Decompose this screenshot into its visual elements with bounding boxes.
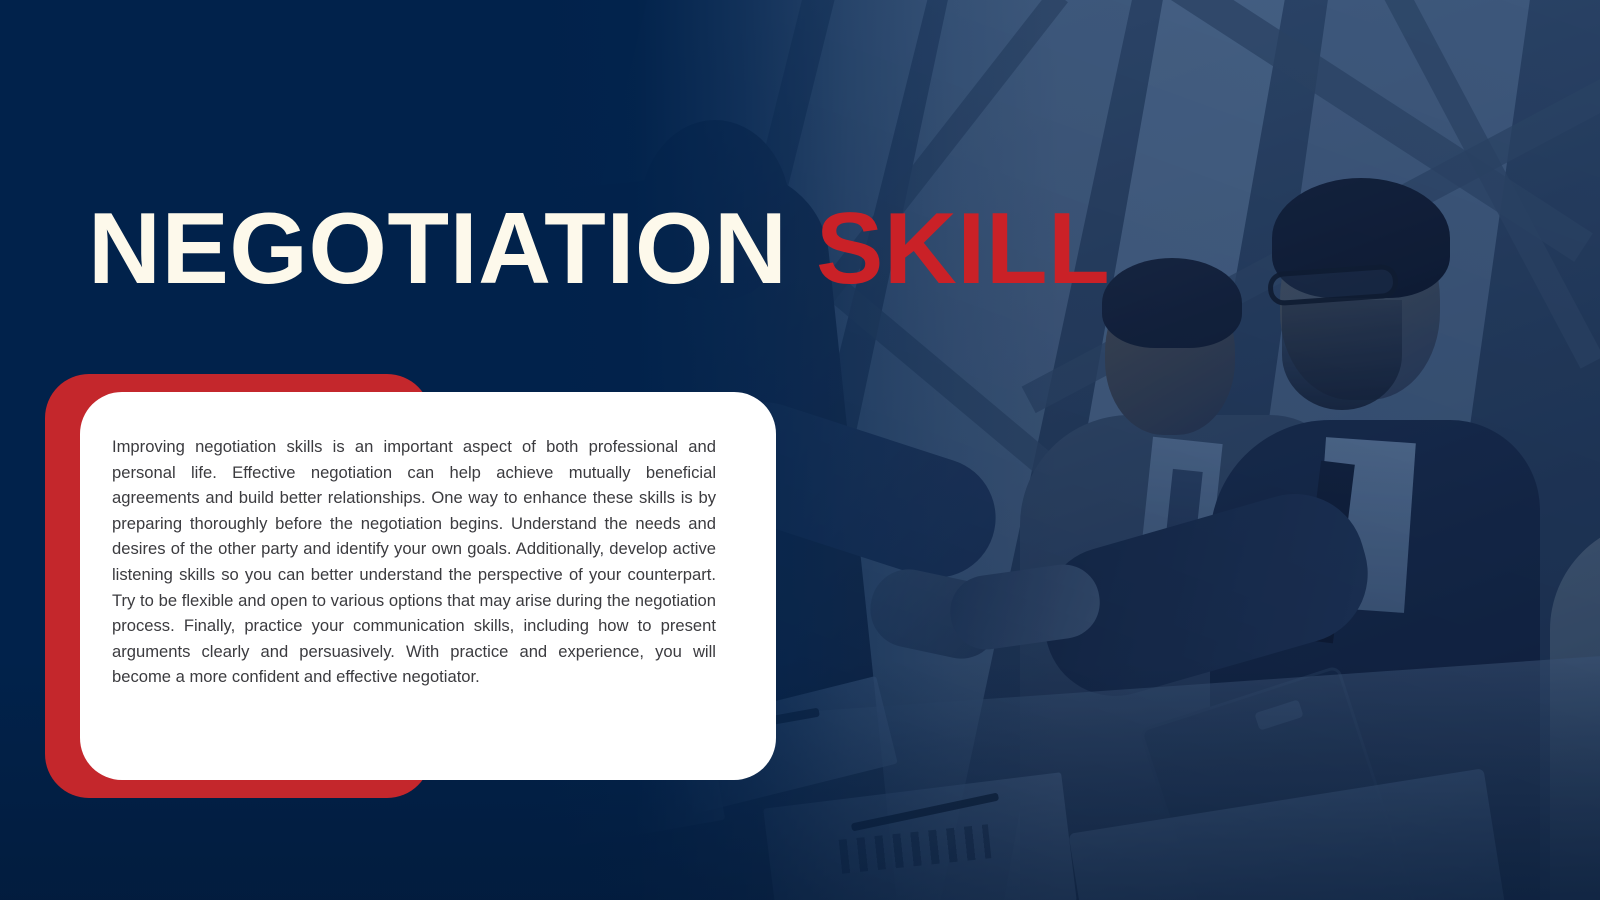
body-text-card: Improving negotiation skills is an impor… [80, 392, 776, 780]
presentation-slide: NEGOTIATION SKILL Improving negotiation … [0, 0, 1600, 900]
title-primary-text: NEGOTIATION [88, 193, 816, 305]
body-paragraph: Improving negotiation skills is an impor… [112, 434, 716, 690]
page-title: NEGOTIATION SKILL [88, 196, 1110, 302]
title-accent-text: SKILL [816, 193, 1110, 305]
